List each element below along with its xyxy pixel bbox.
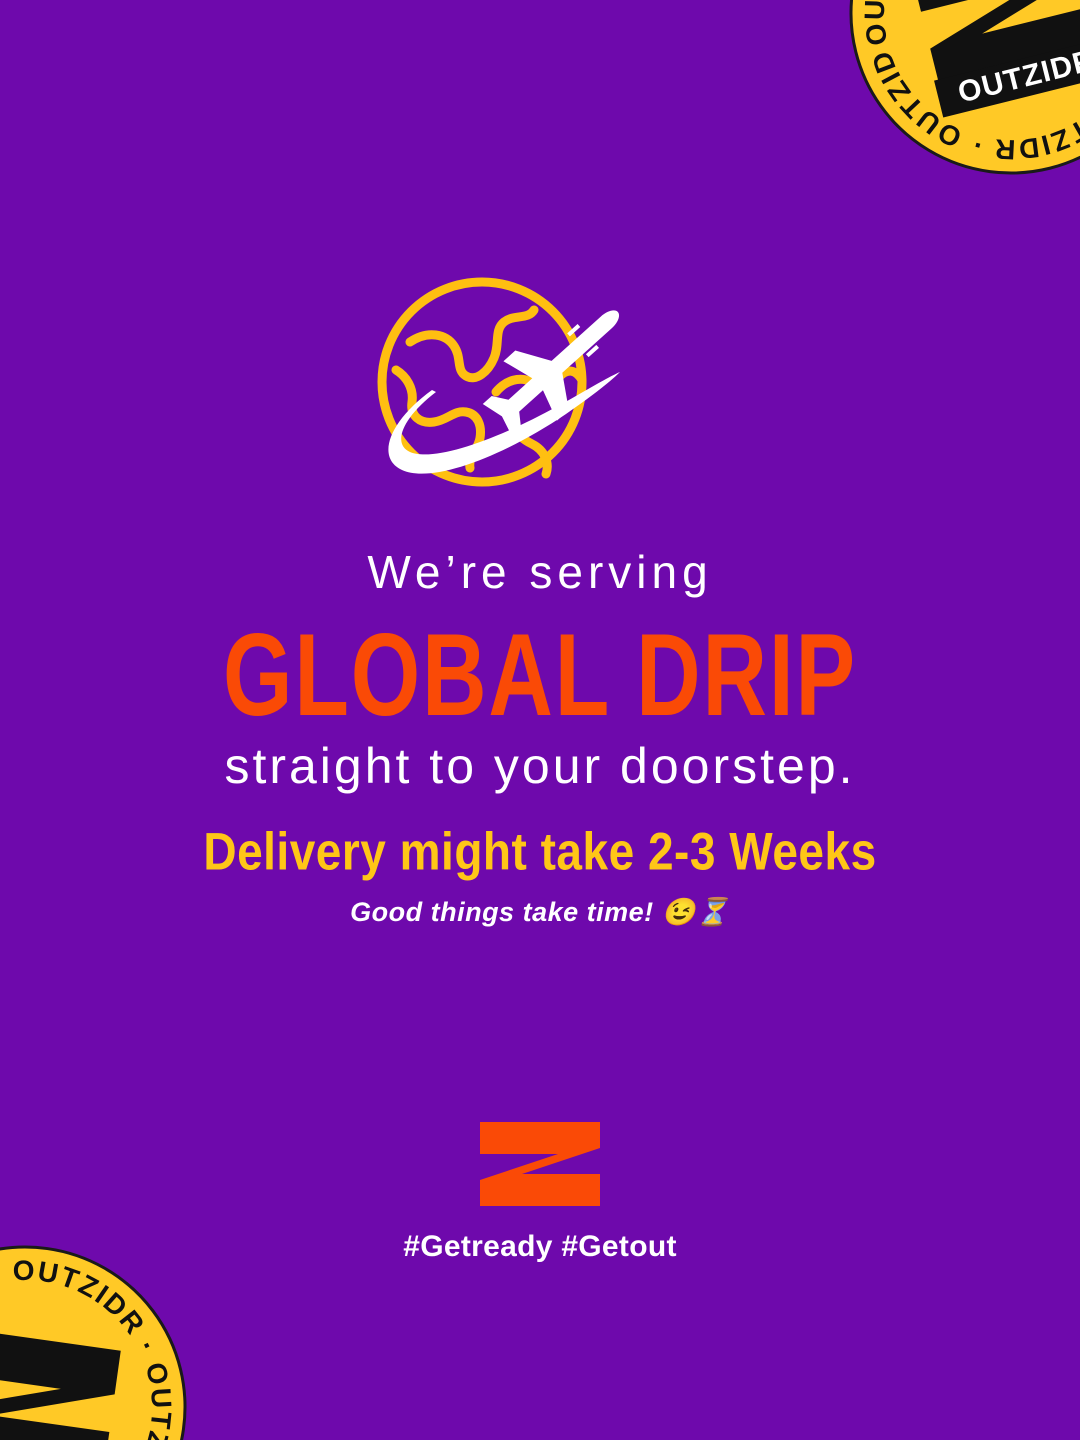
hero-illustration [370, 272, 710, 512]
delivery-note-block: Delivery might take 2-3 Weeks Good thing… [0, 820, 1080, 928]
outzidr-badge-sticker-top-right: OUTZIDR · OUTZIDR · OUTZIDR · OUTZIDR · … [811, 0, 1080, 213]
delivery-reassurance-text: Good things take time! 😉⏳ [0, 896, 1080, 928]
hashtags-text: #Getready #Getout [0, 1230, 1080, 1264]
delivery-estimate-text: Delivery might take 2-3 Weeks [0, 820, 1080, 882]
airplane-icon [471, 282, 645, 450]
outzidr-z-logo-icon [478, 1120, 602, 1208]
footer-block: #Getready #Getout [0, 1120, 1080, 1264]
eyebrow-text: We’re serving [0, 548, 1080, 596]
page-title: GLOBAL DRIP [38, 610, 1042, 741]
subline-text: straight to your doorstep. [0, 740, 1080, 793]
headline-block: We’re serving GLOBAL DRIP straight to yo… [0, 548, 1080, 792]
poster-canvas: OUTZIDR · OUTZIDR · OUTZIDR · OUTZIDR · … [0, 0, 1080, 1440]
